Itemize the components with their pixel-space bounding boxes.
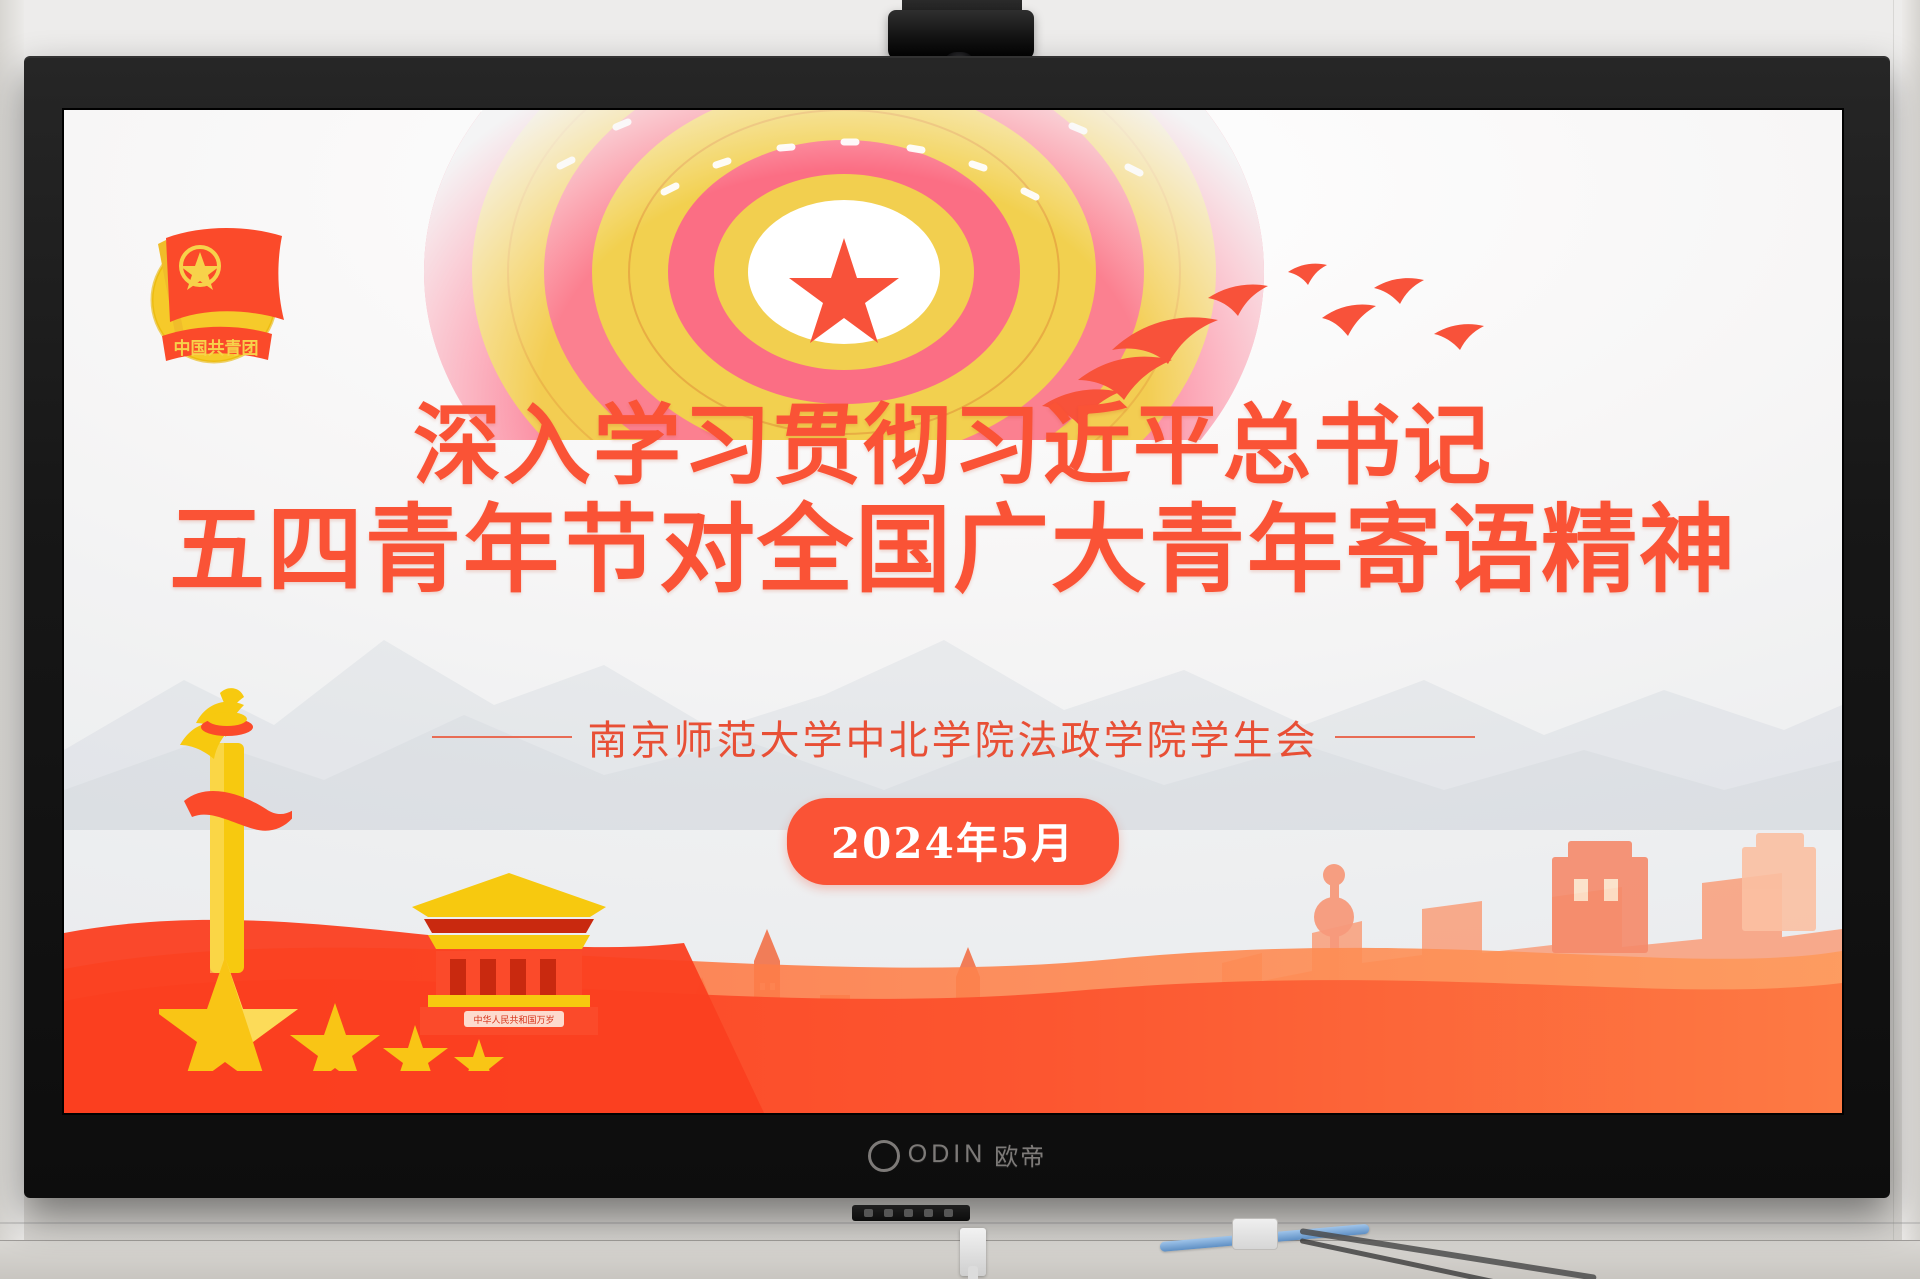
wall-seam-line — [1893, 0, 1894, 1279]
odin-circle-icon — [868, 1140, 900, 1172]
brand-latin-text: ODIN — [908, 1140, 987, 1169]
control-button-1[interactable] — [864, 1209, 873, 1217]
usb-cable — [968, 1266, 978, 1279]
screenshot-root: 中国共青团 深入学习贯彻习近平总书记 五四青年节对全国广大青年寄语精神 南京师范… — [0, 0, 1920, 1279]
display-brand-logo: ODIN 欧帝 — [24, 1134, 1890, 1174]
slide-title-block: 深入学习贯彻习近平总书记 五四青年节对全国广大青年寄语精神 — [64, 396, 1842, 606]
wall-outlet — [1232, 1218, 1278, 1250]
control-button-4[interactable] — [924, 1209, 933, 1217]
title-line-1: 深入学习贯彻习近平总书记 — [64, 396, 1842, 496]
wall-panel-right — [1902, 0, 1920, 1279]
control-button-5[interactable] — [944, 1209, 953, 1217]
control-button-2[interactable] — [884, 1209, 893, 1217]
slide-bottom-scenery: 中华人民共和国万岁 — [64, 683, 1842, 1113]
wall-panel-left — [0, 0, 24, 1279]
communist-youth-league-emblem: 中国共青团 — [126, 204, 302, 374]
huabiao-pillar-decoration — [162, 683, 292, 983]
brand-chinese-text: 欧帝 — [994, 1137, 1046, 1172]
title-line-2: 五四青年节对全国广大青年寄语精神 — [64, 496, 1842, 605]
control-button-3[interactable] — [904, 1209, 913, 1217]
wall-horizontal-seam — [0, 1222, 1920, 1224]
presentation-slide: 中国共青团 深入学习贯彻习近平总书记 五四青年节对全国广大青年寄语精神 南京师范… — [64, 110, 1842, 1113]
golden-stars-decoration — [159, 951, 519, 1071]
emblem-banner-text: 中国共青团 — [174, 338, 259, 359]
display-bezel: 中国共青团 深入学习贯彻习近平总书记 五四青年节对全国广大青年寄语精神 南京师范… — [24, 56, 1890, 1198]
display-screen[interactable]: 中国共青团 深入学习贯彻习近平总书记 五四青年节对全国广大青年寄语精神 南京师范… — [64, 110, 1842, 1113]
